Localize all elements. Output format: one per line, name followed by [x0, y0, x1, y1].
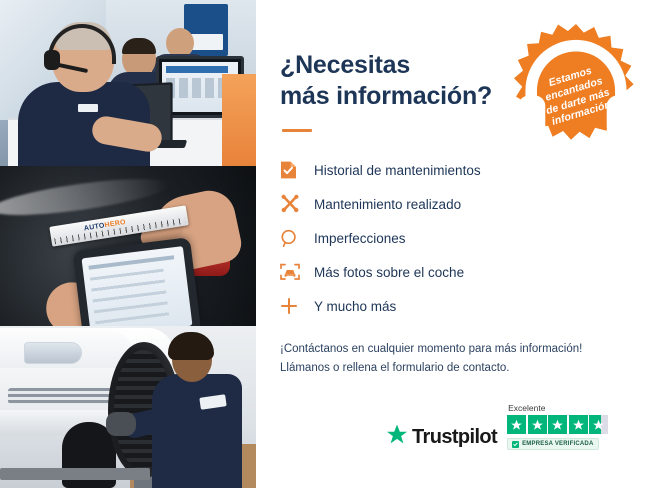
- star-partial: [589, 415, 608, 434]
- feature-label: Mantenimiento realizado: [314, 197, 461, 212]
- star-filled: [507, 415, 526, 434]
- feature-label: Más fotos sobre el coche: [314, 265, 464, 280]
- agent-two-hair: [122, 38, 156, 54]
- mechanic-body: [152, 374, 242, 488]
- feature-label: Y mucho más: [314, 299, 396, 314]
- headline-line-2: más información?: [280, 82, 492, 110]
- autohero-ruler-label: AUTOHERO: [83, 219, 126, 233]
- plus-icon: [280, 297, 314, 315]
- verified-label: EMPRESA VERIFICADA: [522, 441, 593, 447]
- feature-item-much-more: Y mucho más: [280, 290, 628, 322]
- car-headlight: [24, 342, 82, 364]
- photo-collage: AUTOHERO: [0, 0, 256, 488]
- trustpilot-wordmark: Trustpilot: [412, 426, 497, 449]
- magnifier-icon: [280, 229, 314, 248]
- agent-name-badge: [78, 104, 98, 112]
- page-title: ¿Necesitas más información?: [280, 50, 530, 111]
- star-rating: [507, 415, 608, 434]
- contact-line-2: Llámanos o rellena el formulario de cont…: [280, 362, 510, 374]
- promo-card: AUTOHERO: [0, 0, 650, 488]
- mechanic-glove: [106, 412, 136, 436]
- trustpilot-score: Excelente: [507, 403, 608, 450]
- feature-item-imperfections: Imperfecciones: [280, 222, 628, 254]
- title-underline-rule: [282, 129, 312, 132]
- feature-list: Historial de mantenimientos Mantenimient…: [280, 154, 628, 322]
- feature-item-maintenance-done: Mantenimiento realizado: [280, 188, 628, 220]
- contact-text: ¡Contáctanos en cualquier momento para m…: [280, 340, 628, 377]
- headset-earcup: [44, 50, 60, 70]
- car-grille: [8, 388, 120, 404]
- feature-label: Imperfecciones: [314, 231, 406, 246]
- star-filled: [528, 415, 547, 434]
- rating-label: Excelente: [508, 403, 545, 413]
- clipboard-check-icon: [280, 160, 314, 180]
- contact-line-1: ¡Contáctanos en cualquier momento para m…: [280, 343, 582, 355]
- tools-icon: [280, 194, 314, 214]
- inspection-tablet: [73, 237, 202, 326]
- feature-label: Historial de mantenimientos: [314, 163, 481, 178]
- badge-content: Estamos encantados de darte más informac…: [512, 22, 640, 150]
- star-filled: [569, 415, 588, 434]
- feature-item-more-photos: Más fotos sobre el coche: [280, 256, 628, 288]
- trustpilot-logo: Trustpilot: [386, 424, 497, 450]
- car-lift-arm: [0, 468, 150, 480]
- mechanic-wheel-photo: [0, 326, 256, 488]
- trustpilot-rating[interactable]: Trustpilot Excelente: [386, 403, 608, 450]
- tablet-screen: [82, 246, 193, 326]
- star-filled: [548, 415, 567, 434]
- orange-equipment: [222, 74, 256, 166]
- support-badge: Estamos encantados de darte más informac…: [512, 22, 640, 150]
- car-frame-icon: [280, 263, 314, 281]
- feature-item-maintenance-history: Historial de mantenimientos: [280, 154, 628, 186]
- verified-company-badge: EMPRESA VERIFICADA: [507, 438, 598, 450]
- trustpilot-star-icon: [386, 424, 408, 450]
- content-panel: ¿Necesitas más información? Estamos: [256, 0, 650, 488]
- verified-check-icon: [512, 441, 519, 448]
- headline-line-1: ¿Necesitas: [280, 51, 410, 79]
- call-center-agents-photo: [0, 0, 256, 166]
- car-inspection-ruler-photo: AUTOHERO: [0, 166, 256, 326]
